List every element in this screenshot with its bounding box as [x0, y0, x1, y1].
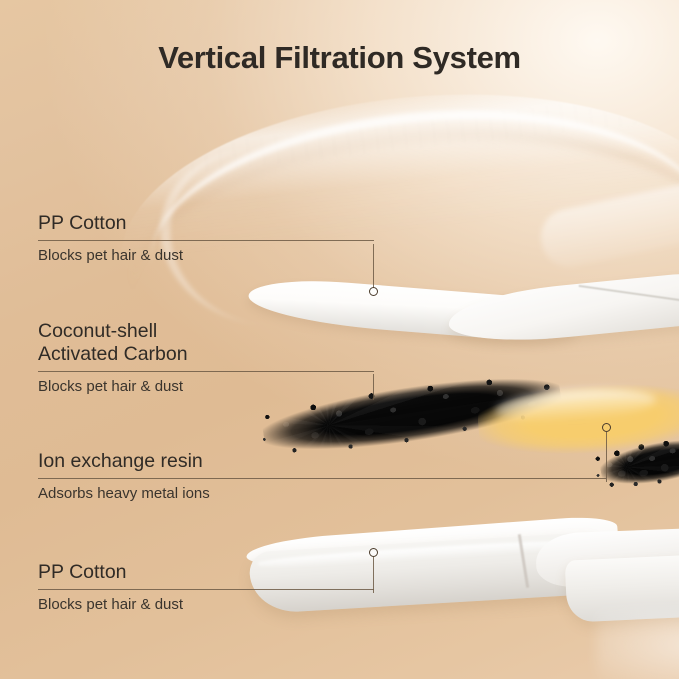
carbon-slab-secondary [597, 432, 679, 492]
callout-rule [38, 589, 374, 590]
callout-heading: PP Cotton [38, 212, 374, 235]
leader-vertical-segment [373, 244, 374, 288]
tray-right-wing [535, 526, 679, 588]
tray-seam [518, 534, 529, 588]
resin-sheen [495, 385, 658, 426]
tray-right-pan [565, 551, 679, 622]
callout-subtitle: Adsorbs heavy metal ions [38, 485, 606, 502]
callout-rule [38, 478, 606, 479]
filtration-diagram: Vertical Filtration System PP Cotton Blo… [0, 0, 679, 679]
activated-carbon-granules-secondary [597, 432, 679, 492]
callout-pp-cotton-bottom: PP Cotton Blocks pet hair & dust [38, 561, 374, 613]
callout-subtitle: Blocks pet hair & dust [38, 596, 374, 613]
callout-heading: Coconut-shell Activated Carbon [38, 320, 374, 366]
callout-rule [38, 371, 374, 372]
circle-marker [602, 423, 611, 432]
callout-rule [38, 240, 374, 241]
callout-pp-cotton-top: PP Cotton Blocks pet hair & dust [38, 212, 374, 264]
circle-marker [369, 287, 378, 296]
leader-vertical-segment [373, 374, 374, 400]
bowl-rim-notch [536, 178, 679, 272]
leader-vertical-segment [606, 432, 607, 482]
callout-ion-exchange-resin: Ion exchange resin Adsorbs heavy metal i… [38, 450, 606, 502]
callout-subtitle: Blocks pet hair & dust [38, 378, 374, 395]
pad-top-right-lobe [446, 267, 679, 348]
callout-heading: Ion exchange resin [38, 450, 606, 473]
page-title: Vertical Filtration System [0, 40, 679, 76]
callout-heading: PP Cotton [38, 561, 374, 584]
callout-activated-carbon: Coconut-shell Activated Carbon Blocks pe… [38, 320, 374, 395]
pad-top-crease [579, 285, 679, 309]
circle-marker [369, 548, 378, 557]
tray-depth-blur [596, 608, 679, 679]
leader-vertical-segment [373, 557, 374, 593]
callout-subtitle: Blocks pet hair & dust [38, 247, 374, 264]
